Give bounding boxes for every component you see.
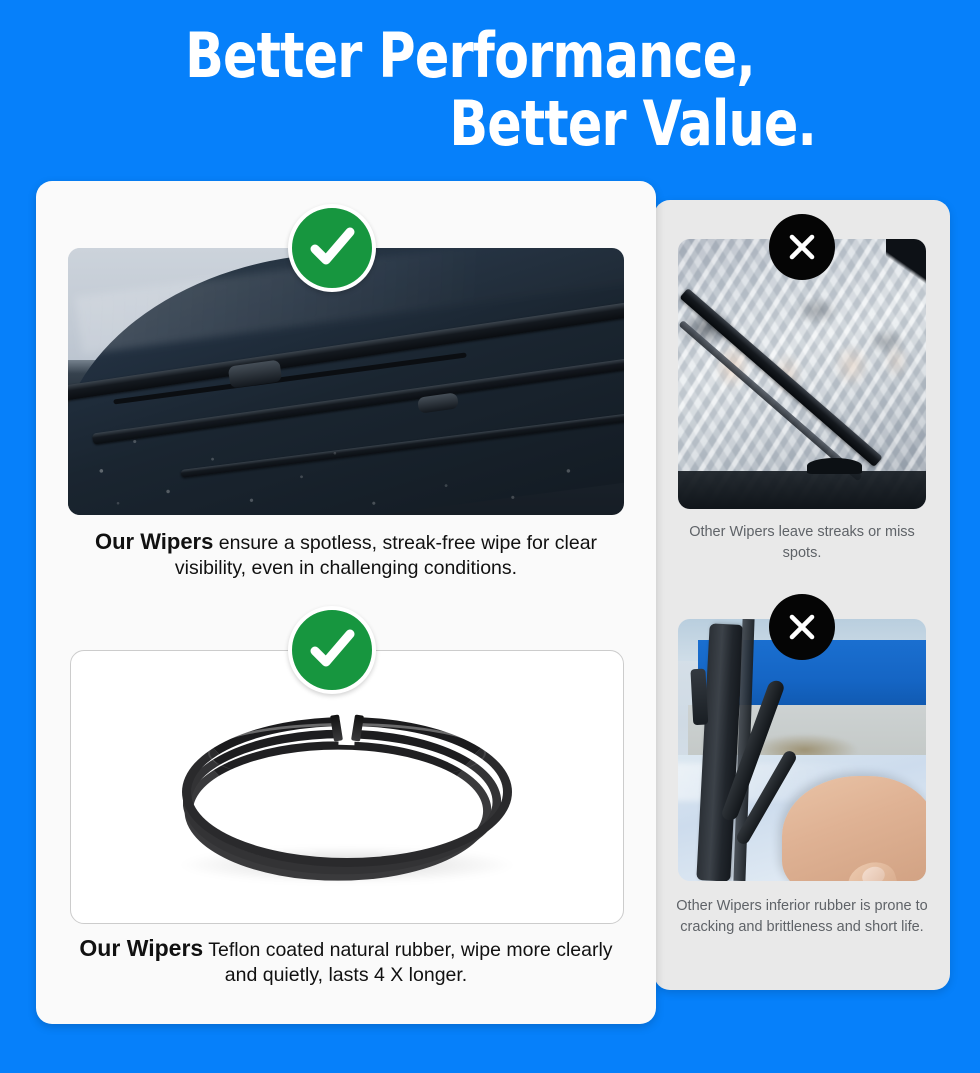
x-icon <box>769 214 835 280</box>
check-icon <box>288 204 376 292</box>
our-wipers-caption-1-rest: ensure a spotless, streak-free wipe for … <box>175 532 597 579</box>
rubber-coil <box>182 717 512 867</box>
our-wipers-caption-2-bold: Our Wipers <box>79 935 203 961</box>
windshield-pillar <box>886 239 926 298</box>
our-wipers-panel: Our Wipers ensure a spotless, streak-fre… <box>36 181 656 1024</box>
water-droplets <box>68 368 624 515</box>
x-icon <box>769 594 835 660</box>
our-wipers-caption-2-rest: Teflon coated natural rubber, wipe more … <box>203 939 612 986</box>
page-title: Better Performance, Better Value. <box>117 22 822 158</box>
check-icon <box>288 606 376 694</box>
other-wipers-panel: Other Wipers leave streaks or miss spots… <box>654 200 950 990</box>
windshield-cowl <box>678 471 926 509</box>
headline-line-1: Better Performance, <box>117 22 822 90</box>
our-wipers-caption-1-bold: Our Wipers <box>95 529 213 554</box>
headline-line-2: Better Value. <box>117 90 822 158</box>
other-wipers-caption-2: Other Wipers inferior rubber is prone to… <box>670 896 934 938</box>
other-wipers-caption-1: Other Wipers leave streaks or miss spots… <box>670 522 934 564</box>
our-wipers-caption-2: Our Wipers Teflon coated natural rubber,… <box>64 936 628 988</box>
our-wipers-caption-1: Our Wipers ensure a spotless, streak-fre… <box>64 529 628 581</box>
